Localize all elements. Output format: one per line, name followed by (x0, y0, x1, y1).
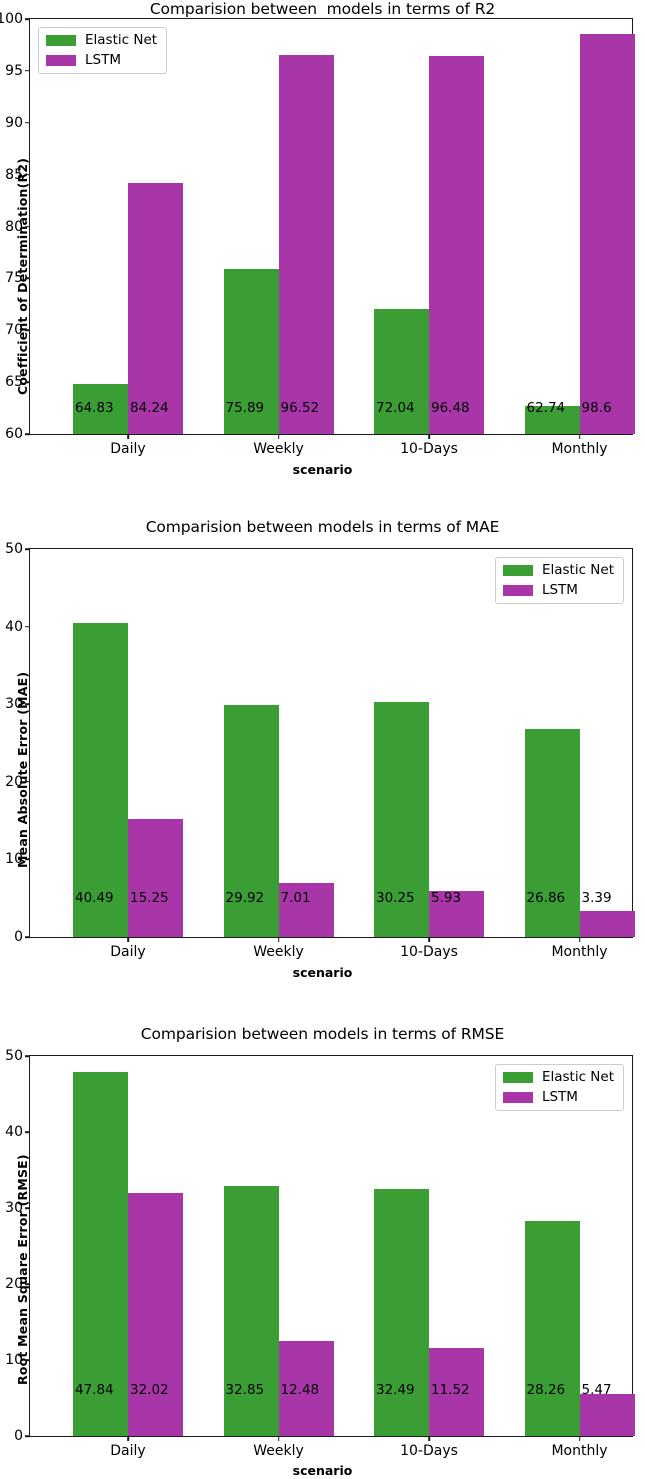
x-axis-tick-mark (127, 937, 129, 942)
bar-r2-10-days-lstm (429, 56, 484, 434)
legend-item[interactable]: LSTM (46, 54, 157, 68)
y-axis-tick-mark (25, 936, 30, 938)
bar-rmse-monthly-lstm (580, 1394, 635, 1436)
chart-figure-rmse: Comparision between models in terms of R… (0, 985, 645, 1479)
y-axis-label-rmse: Root Mean Square Error (RMSE) (15, 1154, 30, 1385)
legend-item-label: Elastic Net (542, 564, 614, 578)
y-axis-tick-mark (25, 278, 30, 280)
bar-value-label: 5.93 (431, 892, 461, 906)
legend-item[interactable]: LSTM (503, 584, 614, 598)
chart-legend-rmse[interactable]: Elastic NetLSTM (495, 1064, 624, 1111)
bar-rmse-10-days-elastic-net (374, 1189, 429, 1436)
bar-rmse-daily-lstm (128, 1193, 183, 1436)
x-axis-tick-mark (127, 434, 129, 439)
y-axis-tick-mark (25, 1207, 30, 1209)
legend-item[interactable]: Elastic Net (46, 34, 157, 48)
x-axis-tick-mark (278, 434, 280, 439)
x-axis-tick-mark (428, 937, 430, 942)
y-axis-tick-mark (25, 703, 30, 705)
plot-area-mae: 0102030405040.4915.25Daily29.927.01Weekl… (29, 548, 633, 938)
y-axis-tick-mark (25, 381, 30, 383)
legend-swatch-icon (503, 565, 533, 576)
x-axis-tick-mark (127, 1436, 129, 1441)
x-axis-tick-mark (579, 937, 581, 942)
y-axis-tick-mark (25, 433, 30, 435)
bar-value-label: 12.48 (281, 1384, 320, 1398)
bar-value-label: 28.26 (527, 1384, 566, 1398)
y-axis-tick-mark (25, 626, 30, 628)
legend-item-label: LSTM (542, 1091, 578, 1105)
bar-value-label: 75.89 (226, 402, 265, 416)
bar-value-label: 3.39 (582, 892, 612, 906)
y-axis-tick-mark (25, 1435, 30, 1437)
bar-rmse-weekly-elastic-net (224, 1186, 279, 1436)
legend-swatch-icon (46, 35, 76, 46)
chart-title-rmse: Comparision between models in terms of R… (0, 1025, 645, 1043)
bar-value-label: 96.48 (431, 402, 470, 416)
legend-item-label: Elastic Net (85, 34, 157, 48)
chart-title-r2: Comparision between models in terms of R… (0, 0, 645, 18)
chart-legend-mae[interactable]: Elastic NetLSTM (495, 557, 624, 604)
chart-figure-mae: Comparision between models in terms of M… (0, 490, 645, 980)
legend-item-label: LSTM (85, 54, 121, 68)
x-axis-tick-mark (428, 434, 430, 439)
plot-area-rmse: 0102030405047.8432.02Daily32.8512.48Week… (29, 1055, 633, 1437)
y-axis-tick-mark (25, 18, 30, 20)
y-axis-tick-mark (25, 226, 30, 228)
bar-value-label: 29.92 (226, 892, 265, 906)
bar-value-label: 32.02 (130, 1384, 169, 1398)
y-axis-tick-mark (25, 70, 30, 72)
chart-figure-r2: Comparision between models in terms of R… (0, 0, 645, 480)
x-axis-label-r2: scenario (0, 462, 645, 477)
x-axis-tick-mark (278, 1436, 280, 1441)
legend-item[interactable]: Elastic Net (503, 564, 614, 578)
y-axis-tick-mark (25, 329, 30, 331)
legend-item[interactable]: Elastic Net (503, 1071, 614, 1085)
bar-value-label: 64.83 (75, 402, 114, 416)
y-axis-tick-mark (25, 1359, 30, 1361)
legend-swatch-icon (503, 585, 533, 596)
y-axis-tick-mark (25, 1131, 30, 1133)
bar-value-label: 15.25 (130, 892, 169, 906)
bar-mae-monthly-lstm (580, 911, 635, 937)
y-axis-tick-mark (25, 1283, 30, 1285)
x-axis-tick-mark (579, 1436, 581, 1441)
y-axis-tick-mark (25, 548, 30, 550)
bar-r2-monthly-lstm (580, 34, 635, 434)
y-axis-tick-mark (25, 781, 30, 783)
x-axis-tick-mark (579, 434, 581, 439)
bar-value-label: 40.49 (75, 892, 114, 906)
legend-swatch-icon (503, 1092, 533, 1103)
legend-item-label: Elastic Net (542, 1071, 614, 1085)
bar-value-label: 84.24 (130, 402, 169, 416)
bar-value-label: 96.52 (281, 402, 320, 416)
bar-value-label: 98.6 (582, 402, 612, 416)
bar-value-label: 11.52 (431, 1384, 470, 1398)
bar-r2-daily-lstm (128, 183, 183, 434)
y-axis-tick-mark (25, 1055, 30, 1057)
legend-swatch-icon (503, 1072, 533, 1083)
bar-value-label: 7.01 (281, 892, 311, 906)
bar-value-label: 32.85 (226, 1384, 265, 1398)
chart-legend-r2[interactable]: Elastic NetLSTM (38, 27, 167, 74)
bar-value-label: 47.84 (75, 1384, 114, 1398)
x-axis-tick-mark (278, 937, 280, 942)
plot-area-r2: 606570758085909510064.8384.24Daily75.899… (29, 18, 633, 435)
legend-item-label: LSTM (542, 584, 578, 598)
y-axis-tick-mark (25, 859, 30, 861)
x-axis-tick-mark (428, 1436, 430, 1441)
bar-value-label: 30.25 (376, 892, 415, 906)
legend-item[interactable]: LSTM (503, 1091, 614, 1105)
bar-r2-weekly-lstm (279, 55, 334, 434)
bar-value-label: 5.47 (582, 1384, 612, 1398)
bar-value-label: 72.04 (376, 402, 415, 416)
bar-value-label: 32.49 (376, 1384, 415, 1398)
x-axis-label-mae: scenario (0, 965, 645, 980)
bar-value-label: 26.86 (527, 892, 566, 906)
bar-value-label: 62.74 (527, 402, 566, 416)
y-axis-tick-mark (25, 174, 30, 176)
y-axis-tick-mark (25, 122, 30, 124)
bar-rmse-monthly-elastic-net (525, 1221, 580, 1436)
chart-title-mae: Comparision between models in terms of M… (0, 518, 645, 536)
bar-mae-daily-lstm (128, 819, 183, 937)
x-axis-label-rmse: scenario (0, 1463, 645, 1478)
legend-swatch-icon (46, 55, 76, 66)
